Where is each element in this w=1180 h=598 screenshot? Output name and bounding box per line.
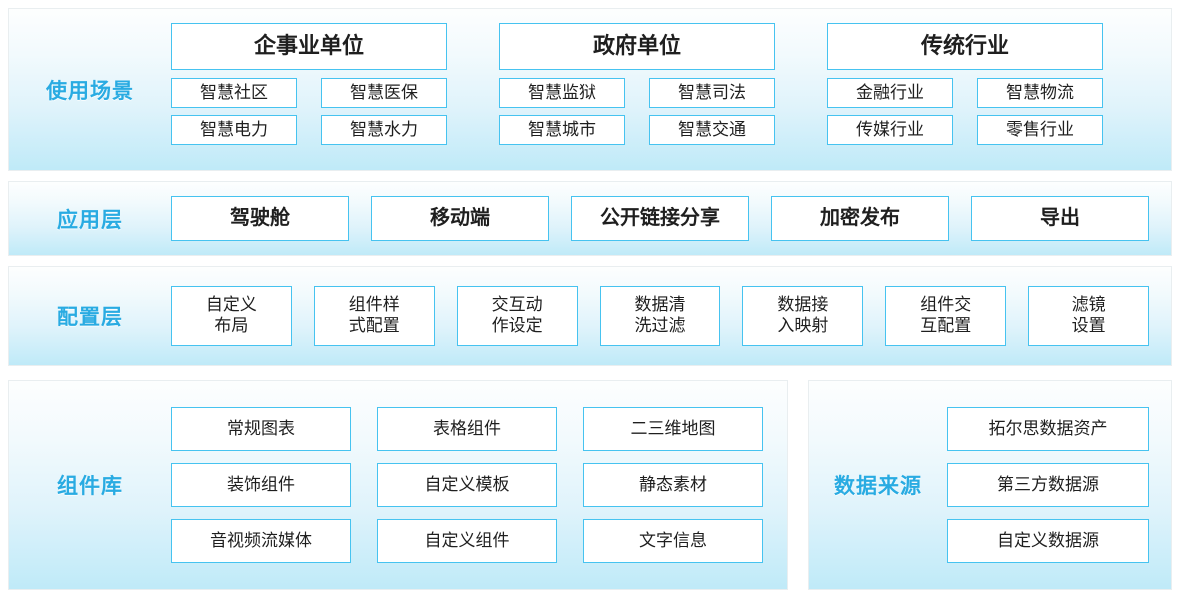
scenario-item[interactable]: 智慧电力 bbox=[171, 115, 297, 145]
component-item[interactable]: 自定义组件 bbox=[377, 519, 557, 563]
scenario-cells-traditional: 金融行业 智慧物流 传媒行业 零售行业 bbox=[827, 78, 1103, 145]
scenario-row: 智慧监狱 智慧司法 bbox=[499, 78, 775, 108]
scenario-item[interactable]: 智慧城市 bbox=[499, 115, 625, 145]
scenario-row: 智慧社区 智慧医保 bbox=[171, 78, 447, 108]
panel-body-application-layer: 驾驶舱 移动端 公开链接分享 加密发布 导出 bbox=[171, 182, 1171, 255]
panel-body-usage-scenarios: 企事业单位 智慧社区 智慧医保 智慧电力 智慧水力 政府单位 智慧监狱 bbox=[171, 9, 1171, 170]
config-item[interactable]: 滤镜 设置 bbox=[1028, 286, 1149, 346]
application-item[interactable]: 加密发布 bbox=[771, 196, 949, 241]
scenario-item[interactable]: 智慧物流 bbox=[977, 78, 1103, 108]
scenario-row: 传媒行业 零售行业 bbox=[827, 115, 1103, 145]
application-item[interactable]: 驾驶舱 bbox=[171, 196, 349, 241]
scenario-item[interactable]: 智慧司法 bbox=[649, 78, 775, 108]
scenario-row: 智慧城市 智慧交通 bbox=[499, 115, 775, 145]
component-item[interactable]: 表格组件 bbox=[377, 407, 557, 451]
component-row: 常规图表 表格组件 二三维地图 bbox=[171, 407, 763, 451]
component-item[interactable]: 常规图表 bbox=[171, 407, 351, 451]
scenario-group-header-traditional[interactable]: 传统行业 bbox=[827, 23, 1103, 70]
datasource-item[interactable]: 拓尔思数据资产 bbox=[947, 407, 1149, 451]
panel-label-configuration-layer: 配置层 bbox=[9, 301, 171, 331]
datasource-grid: 拓尔思数据资产 第三方数据源 自定义数据源 bbox=[947, 407, 1149, 563]
scenario-item[interactable]: 金融行业 bbox=[827, 78, 953, 108]
application-item[interactable]: 公开链接分享 bbox=[571, 196, 749, 241]
panel-label-usage-scenarios: 使用场景 bbox=[9, 75, 171, 105]
scenario-cells-enterprise: 智慧社区 智慧医保 智慧电力 智慧水力 bbox=[171, 78, 447, 145]
component-row: 音视频流媒体 自定义组件 文字信息 bbox=[171, 519, 763, 563]
scenario-item[interactable]: 传媒行业 bbox=[827, 115, 953, 145]
scenario-group-enterprise: 企事业单位 智慧社区 智慧医保 智慧电力 智慧水力 bbox=[171, 23, 447, 158]
config-item[interactable]: 自定义 布局 bbox=[171, 286, 292, 346]
component-item[interactable]: 静态素材 bbox=[583, 463, 763, 507]
scenario-row: 智慧电力 智慧水力 bbox=[171, 115, 447, 145]
panel-body-data-source: 拓尔思数据资产 第三方数据源 自定义数据源 bbox=[947, 381, 1171, 589]
panel-usage-scenarios: 使用场景 企事业单位 智慧社区 智慧医保 智慧电力 智慧水力 政府单位 bbox=[8, 8, 1172, 171]
application-item[interactable]: 导出 bbox=[971, 196, 1149, 241]
panel-body-configuration-layer: 自定义 布局 组件样 式配置 交互动 作设定 数据清 洗过滤 数据接 入映射 组… bbox=[171, 267, 1171, 365]
scenario-row: 金融行业 智慧物流 bbox=[827, 78, 1103, 108]
architecture-diagram: 使用场景 企事业单位 智慧社区 智慧医保 智慧电力 智慧水力 政府单位 bbox=[0, 0, 1180, 598]
config-item[interactable]: 数据接 入映射 bbox=[742, 286, 863, 346]
panel-body-component-library: 常规图表 表格组件 二三维地图 装饰组件 自定义模板 静态素材 音视频流媒体 自… bbox=[171, 381, 787, 589]
component-item[interactable]: 自定义模板 bbox=[377, 463, 557, 507]
application-item[interactable]: 移动端 bbox=[371, 196, 549, 241]
scenario-cells-government: 智慧监狱 智慧司法 智慧城市 智慧交通 bbox=[499, 78, 775, 145]
config-item[interactable]: 数据清 洗过滤 bbox=[600, 286, 721, 346]
scenario-group-government: 政府单位 智慧监狱 智慧司法 智慧城市 智慧交通 bbox=[499, 23, 775, 158]
panel-label-component-library: 组件库 bbox=[9, 470, 171, 500]
config-item[interactable]: 组件交 互配置 bbox=[885, 286, 1006, 346]
component-item[interactable]: 音视频流媒体 bbox=[171, 519, 351, 563]
component-grid: 常规图表 表格组件 二三维地图 装饰组件 自定义模板 静态素材 音视频流媒体 自… bbox=[171, 407, 763, 563]
datasource-item[interactable]: 自定义数据源 bbox=[947, 519, 1149, 563]
panel-application-layer: 应用层 驾驶舱 移动端 公开链接分享 加密发布 导出 bbox=[8, 181, 1172, 256]
datasource-item[interactable]: 第三方数据源 bbox=[947, 463, 1149, 507]
panel-label-application-layer: 应用层 bbox=[9, 204, 171, 234]
component-item[interactable]: 二三维地图 bbox=[583, 407, 763, 451]
scenario-group-header-government[interactable]: 政府单位 bbox=[499, 23, 775, 70]
scenario-item[interactable]: 智慧交通 bbox=[649, 115, 775, 145]
panel-data-source: 数据来源 拓尔思数据资产 第三方数据源 自定义数据源 bbox=[808, 380, 1172, 590]
panel-label-data-source: 数据来源 bbox=[809, 470, 947, 500]
scenario-item[interactable]: 智慧社区 bbox=[171, 78, 297, 108]
scenario-item[interactable]: 零售行业 bbox=[977, 115, 1103, 145]
config-item[interactable]: 组件样 式配置 bbox=[314, 286, 435, 346]
panel-configuration-layer: 配置层 自定义 布局 组件样 式配置 交互动 作设定 数据清 洗过滤 数据接 入… bbox=[8, 266, 1172, 366]
scenario-group-header-enterprise[interactable]: 企事业单位 bbox=[171, 23, 447, 70]
scenario-group-traditional: 传统行业 金融行业 智慧物流 传媒行业 零售行业 bbox=[827, 23, 1103, 158]
scenario-item[interactable]: 智慧医保 bbox=[321, 78, 447, 108]
config-item[interactable]: 交互动 作设定 bbox=[457, 286, 578, 346]
scenario-item[interactable]: 智慧水力 bbox=[321, 115, 447, 145]
component-item[interactable]: 文字信息 bbox=[583, 519, 763, 563]
scenario-item[interactable]: 智慧监狱 bbox=[499, 78, 625, 108]
panel-component-library: 组件库 常规图表 表格组件 二三维地图 装饰组件 自定义模板 静态素材 音视频流… bbox=[8, 380, 788, 590]
component-row: 装饰组件 自定义模板 静态素材 bbox=[171, 463, 763, 507]
component-item[interactable]: 装饰组件 bbox=[171, 463, 351, 507]
